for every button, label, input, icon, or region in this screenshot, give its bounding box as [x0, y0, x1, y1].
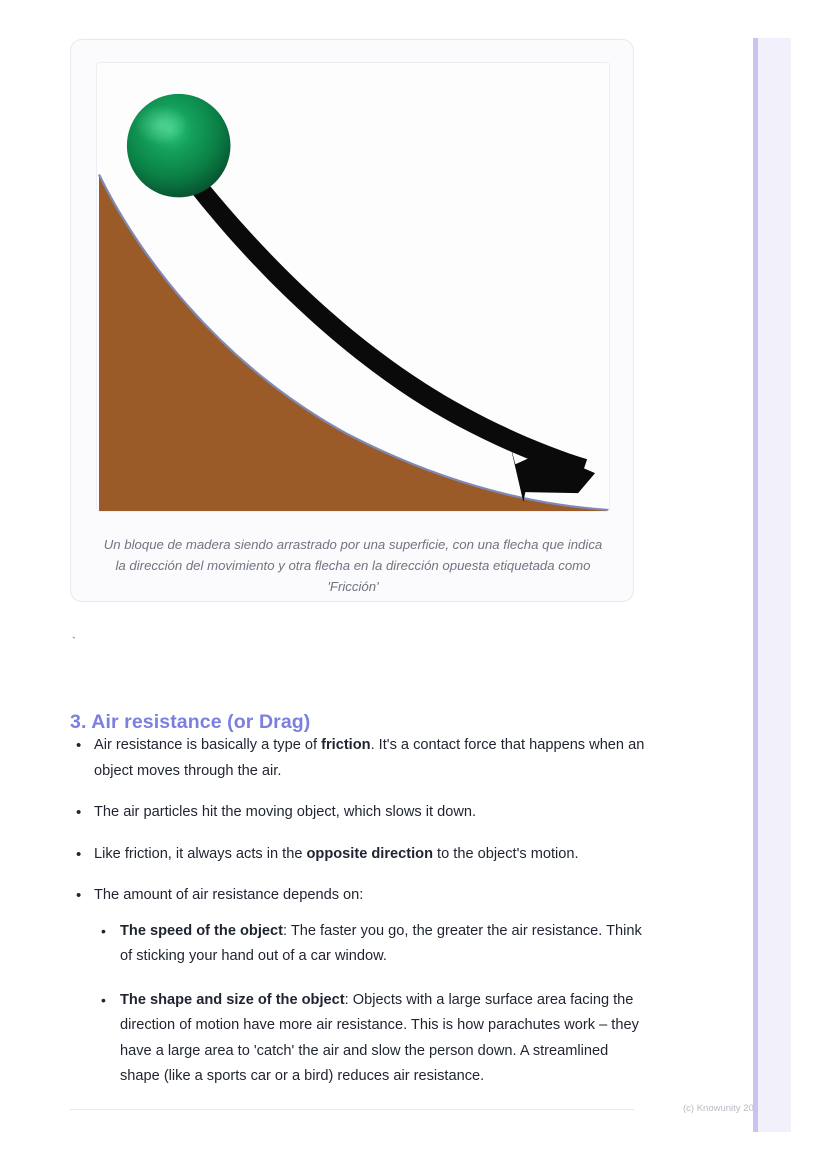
section-body: Air resistance is basically a type of fr…: [70, 733, 645, 1106]
inclined-plane-illustration: [97, 63, 609, 511]
rolling-ball: [127, 94, 231, 198]
plain-text: The air particles hit the moving object,…: [94, 804, 476, 820]
page-scrollbar-thumb[interactable]: [753, 38, 758, 1132]
rich-text: The shape and size of the object: Object…: [120, 992, 639, 1085]
list-item: Air resistance is basically a type of fr…: [70, 733, 645, 784]
rich-text: The speed of the object: The faster you …: [120, 923, 642, 965]
list-item: Like friction, it always acts in the opp…: [70, 842, 645, 868]
rich-text: Like friction, it always acts in the opp…: [94, 846, 579, 862]
emphasis-text: The shape and size of the object: [120, 992, 345, 1008]
list-item: The amount of air resistance depends on:…: [70, 883, 645, 1090]
document-page: Un bloque de madera siendo arrastrado po…: [0, 0, 828, 1171]
footer-divider: [70, 1109, 634, 1110]
bullet-list-level-2: The speed of the object: The faster you …: [94, 919, 645, 1090]
emphasis-text: opposite direction: [307, 846, 433, 862]
ball-highlight: [135, 105, 187, 145]
list-item: The speed of the object: The faster you …: [94, 919, 645, 970]
emphasis-text: The speed of the object: [120, 923, 283, 939]
list-item: The shape and size of the object: Object…: [94, 988, 645, 1090]
figure-image: [96, 62, 610, 512]
rich-text: The air particles hit the moving object,…: [94, 804, 476, 820]
rich-text: The amount of air resistance depends on:: [94, 887, 363, 903]
rich-text: Air resistance is basically a type of fr…: [94, 737, 644, 779]
list-item: The air particles hit the moving object,…: [70, 800, 645, 826]
plain-text: to the object's motion.: [433, 846, 579, 862]
plain-text: Like friction, it always acts in the: [94, 846, 307, 862]
figure-card: Un bloque de madera siendo arrastrado po…: [70, 39, 634, 602]
page-scrollbar-track[interactable]: [753, 38, 791, 1132]
stray-backtick-text: `: [70, 634, 78, 652]
plain-text: Air resistance is basically a type of: [94, 737, 321, 753]
bullet-list-level-1: Air resistance is basically a type of fr…: [70, 733, 645, 1090]
figure-caption: Un bloque de madera siendo arrastrado po…: [97, 534, 609, 597]
emphasis-text: friction: [321, 737, 370, 753]
plain-text: The amount of air resistance depends on:: [94, 887, 363, 903]
section-heading-air-resistance: 3. Air resistance (or Drag): [70, 708, 310, 736]
